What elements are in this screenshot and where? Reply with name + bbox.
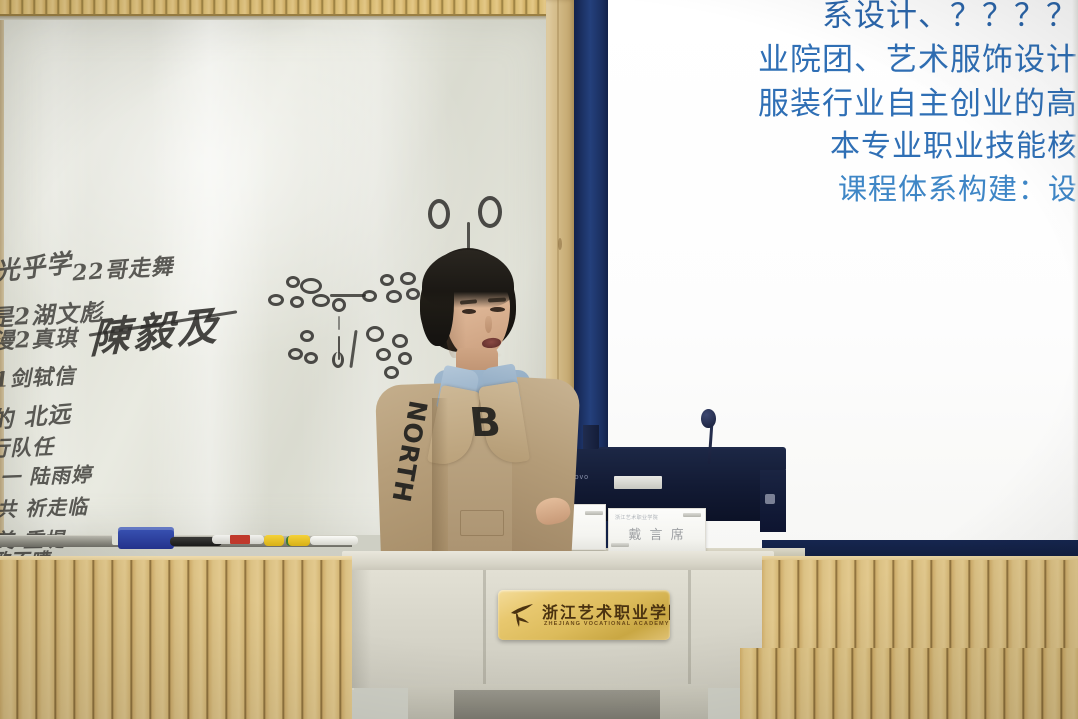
whiteboard-glare <box>20 20 90 535</box>
white-marker[interactable] <box>310 536 358 545</box>
lecture-hall-photo: 光乎学 22哥走舞 是2湖文彪 漫2真琪 1剑轼信 的 北远 行队任 一 陆雨婷… <box>0 0 1078 719</box>
whiteboard-eraser[interactable] <box>118 527 174 549</box>
plaque-english-text: ZHEJIANG VOCATIONAL ACADEMY OF ART <box>544 621 670 627</box>
jacket-chest-letter: B <box>468 400 503 446</box>
podium-panel-seam <box>483 570 486 688</box>
yellow-marker[interactable] <box>264 535 284 546</box>
wood-slat-wall-left <box>0 560 352 719</box>
podium-panel-seam <box>688 570 691 688</box>
screen-edge-highlight <box>1072 0 1078 548</box>
venue-plaque: 浙江艺术职业学院 ZHEJIANG VOCATIONAL ACADEMY OF … <box>498 590 670 640</box>
microphone-icon <box>701 409 716 428</box>
jacket-shading <box>432 398 448 556</box>
red-label-marker[interactable] <box>212 535 264 544</box>
jacket-pocket <box>460 510 504 536</box>
podium-base-recess <box>454 690 660 719</box>
dancer-bird-logo-icon <box>508 600 536 628</box>
name-card-logo: 浙江艺术职业学院 <box>615 514 658 521</box>
eye <box>490 307 505 312</box>
card-clip <box>683 513 701 517</box>
yellow-marker[interactable] <box>288 535 310 546</box>
whiteboard-glare <box>150 20 270 535</box>
nose <box>485 316 492 333</box>
card-clip <box>611 543 629 547</box>
slide-line-5: 课程体系构建：设 <box>608 169 1078 210</box>
slide-line-1: 系设计、？？？？ <box>608 0 1078 38</box>
card-clip <box>585 511 603 515</box>
monitor-spec-sticker <box>614 476 662 489</box>
whiteboard-frame-left <box>0 20 4 535</box>
presenter: NORTH B <box>372 248 582 558</box>
slide-text-block: 系设计、？？？？ 业院团、艺术服饰设计 服装行业自主创业的高 本专业职业技能核 … <box>608 0 1078 210</box>
slide-line-3: 服装行业自主创业的高 <box>608 82 1078 126</box>
monitor-power-button[interactable] <box>765 494 775 504</box>
slide-line-2: 业院团、艺术服饰设计 <box>608 38 1078 82</box>
eye <box>462 309 476 314</box>
name-card: 浙江艺术职业学院 戴 言 席 <box>608 508 706 552</box>
slide-line-4: 本专业职业技能核 <box>608 126 1078 169</box>
wood-slat-wall-lower-right <box>740 648 1078 719</box>
name-card-name: 戴 言 席 <box>609 524 705 543</box>
plaque-chinese-text: 浙江艺术职业学院 <box>542 599 670 623</box>
ceiling-wood-slat-rail <box>0 0 572 16</box>
